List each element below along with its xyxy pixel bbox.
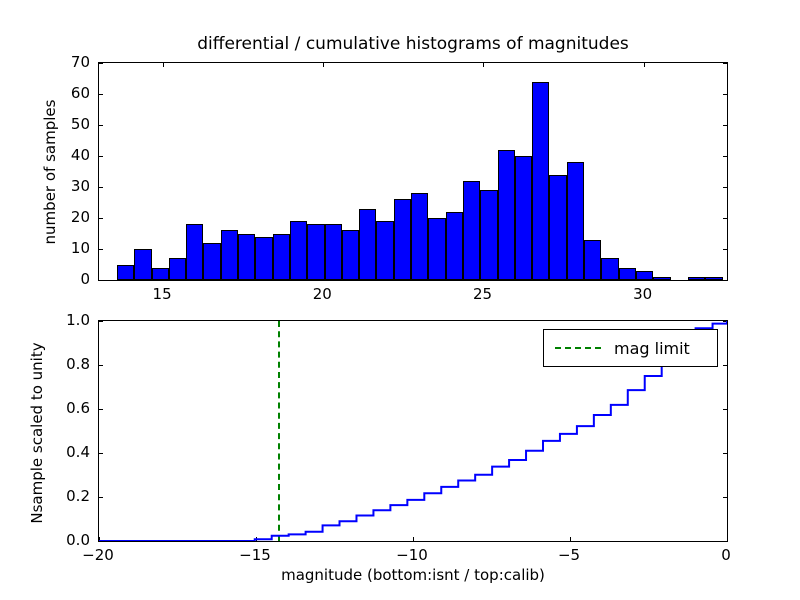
- x-tick-label: −15: [225, 546, 285, 564]
- y-tick-mark: [723, 94, 727, 95]
- y-tick-label: 0.8: [42, 355, 90, 373]
- histogram-bar: [255, 237, 272, 280]
- x-tick-mark: [323, 63, 324, 67]
- histogram-bar: [705, 277, 722, 280]
- histogram-bar: [273, 234, 290, 281]
- histogram-bar: [290, 221, 307, 280]
- histogram-bar: [203, 243, 220, 280]
- y-tick-mark: [99, 156, 103, 157]
- y-tick-mark: [723, 63, 727, 64]
- x-tick-mark: [644, 63, 645, 67]
- histogram-bar: [549, 175, 566, 280]
- top-histogram-axes: [98, 62, 728, 281]
- y-tick-label: 1.0: [42, 311, 90, 329]
- y-tick-mark: [723, 125, 727, 126]
- y-tick-label: 0.4: [42, 443, 90, 461]
- histogram-bar: [376, 221, 393, 280]
- y-tick-mark: [723, 541, 727, 542]
- histogram-bar: [134, 249, 151, 280]
- y-tick-mark: [723, 187, 727, 188]
- x-tick-mark: [727, 537, 728, 541]
- histogram-bar: [342, 230, 359, 280]
- y-tick-mark: [99, 249, 103, 250]
- legend[interactable]: mag limit: [543, 329, 718, 367]
- y-tick-mark: [99, 63, 103, 64]
- x-tick-label: 30: [613, 285, 673, 303]
- y-tick-mark: [99, 280, 103, 281]
- y-tick-mark: [99, 94, 103, 95]
- y-tick-label: 0.6: [42, 399, 90, 417]
- histogram-bar: [411, 193, 428, 280]
- x-tick-label: −20: [68, 546, 128, 564]
- y-tick-label: 0: [42, 270, 90, 288]
- y-tick-mark: [723, 249, 727, 250]
- histogram-bar: [619, 268, 636, 280]
- y-tick-label: 10: [42, 239, 90, 257]
- x-tick-label: −10: [382, 546, 442, 564]
- y-tick-label: 70: [42, 53, 90, 71]
- x-axis-label: magnitude (bottom:isnt / top:calib): [98, 566, 728, 584]
- histogram-bar: [325, 224, 342, 280]
- x-tick-label: 0: [696, 546, 756, 564]
- histogram-bar: [653, 277, 670, 280]
- x-tick-label: 25: [452, 285, 512, 303]
- histogram-bar: [186, 224, 203, 280]
- x-tick-mark: [483, 63, 484, 67]
- chart-title: differential / cumulative histograms of …: [98, 34, 728, 54]
- histogram-bar: [117, 265, 134, 281]
- histogram-bar: [567, 162, 584, 280]
- histogram-bar: [515, 156, 532, 280]
- y-tick-mark: [723, 156, 727, 157]
- x-tick-label: 20: [292, 285, 352, 303]
- mag-limit-legend-swatch: [555, 347, 601, 349]
- x-tick-label: −5: [539, 546, 599, 564]
- y-tick-label: 40: [42, 146, 90, 164]
- mag-limit-legend-label: mag limit: [614, 339, 690, 358]
- y-tick-mark: [99, 125, 103, 126]
- y-tick-label: 20: [42, 208, 90, 226]
- y-tick-label: 30: [42, 177, 90, 195]
- histogram-bar: [152, 268, 169, 280]
- histogram-bar: [688, 277, 705, 280]
- y-tick-label: 50: [42, 115, 90, 133]
- histogram-bar: [584, 240, 601, 280]
- x-tick-mark: [163, 63, 164, 67]
- histogram-bar: [359, 209, 376, 280]
- histogram-bar: [169, 258, 186, 280]
- histogram-bar: [498, 150, 515, 280]
- histogram-bar: [307, 224, 324, 280]
- y-tick-mark: [99, 218, 103, 219]
- histogram-bar: [532, 82, 549, 280]
- histogram-bar: [463, 181, 480, 280]
- histogram-bar: [446, 212, 463, 280]
- histogram-bar: [238, 234, 255, 281]
- histogram-bar: [636, 271, 653, 280]
- y-tick-mark: [723, 218, 727, 219]
- y-tick-mark: [99, 187, 103, 188]
- y-tick-mark: [723, 280, 727, 281]
- y-tick-label: 60: [42, 84, 90, 102]
- histogram-bar: [428, 218, 445, 280]
- histogram-bar: [480, 190, 497, 280]
- y-tick-mark: [99, 541, 103, 542]
- y-tick-label: 0.2: [42, 487, 90, 505]
- figure: differential / cumulative histograms of …: [0, 0, 800, 600]
- histogram-bar: [601, 258, 618, 280]
- histogram-bar: [221, 230, 238, 280]
- histogram-bar: [394, 199, 411, 280]
- x-tick-label: 15: [132, 285, 192, 303]
